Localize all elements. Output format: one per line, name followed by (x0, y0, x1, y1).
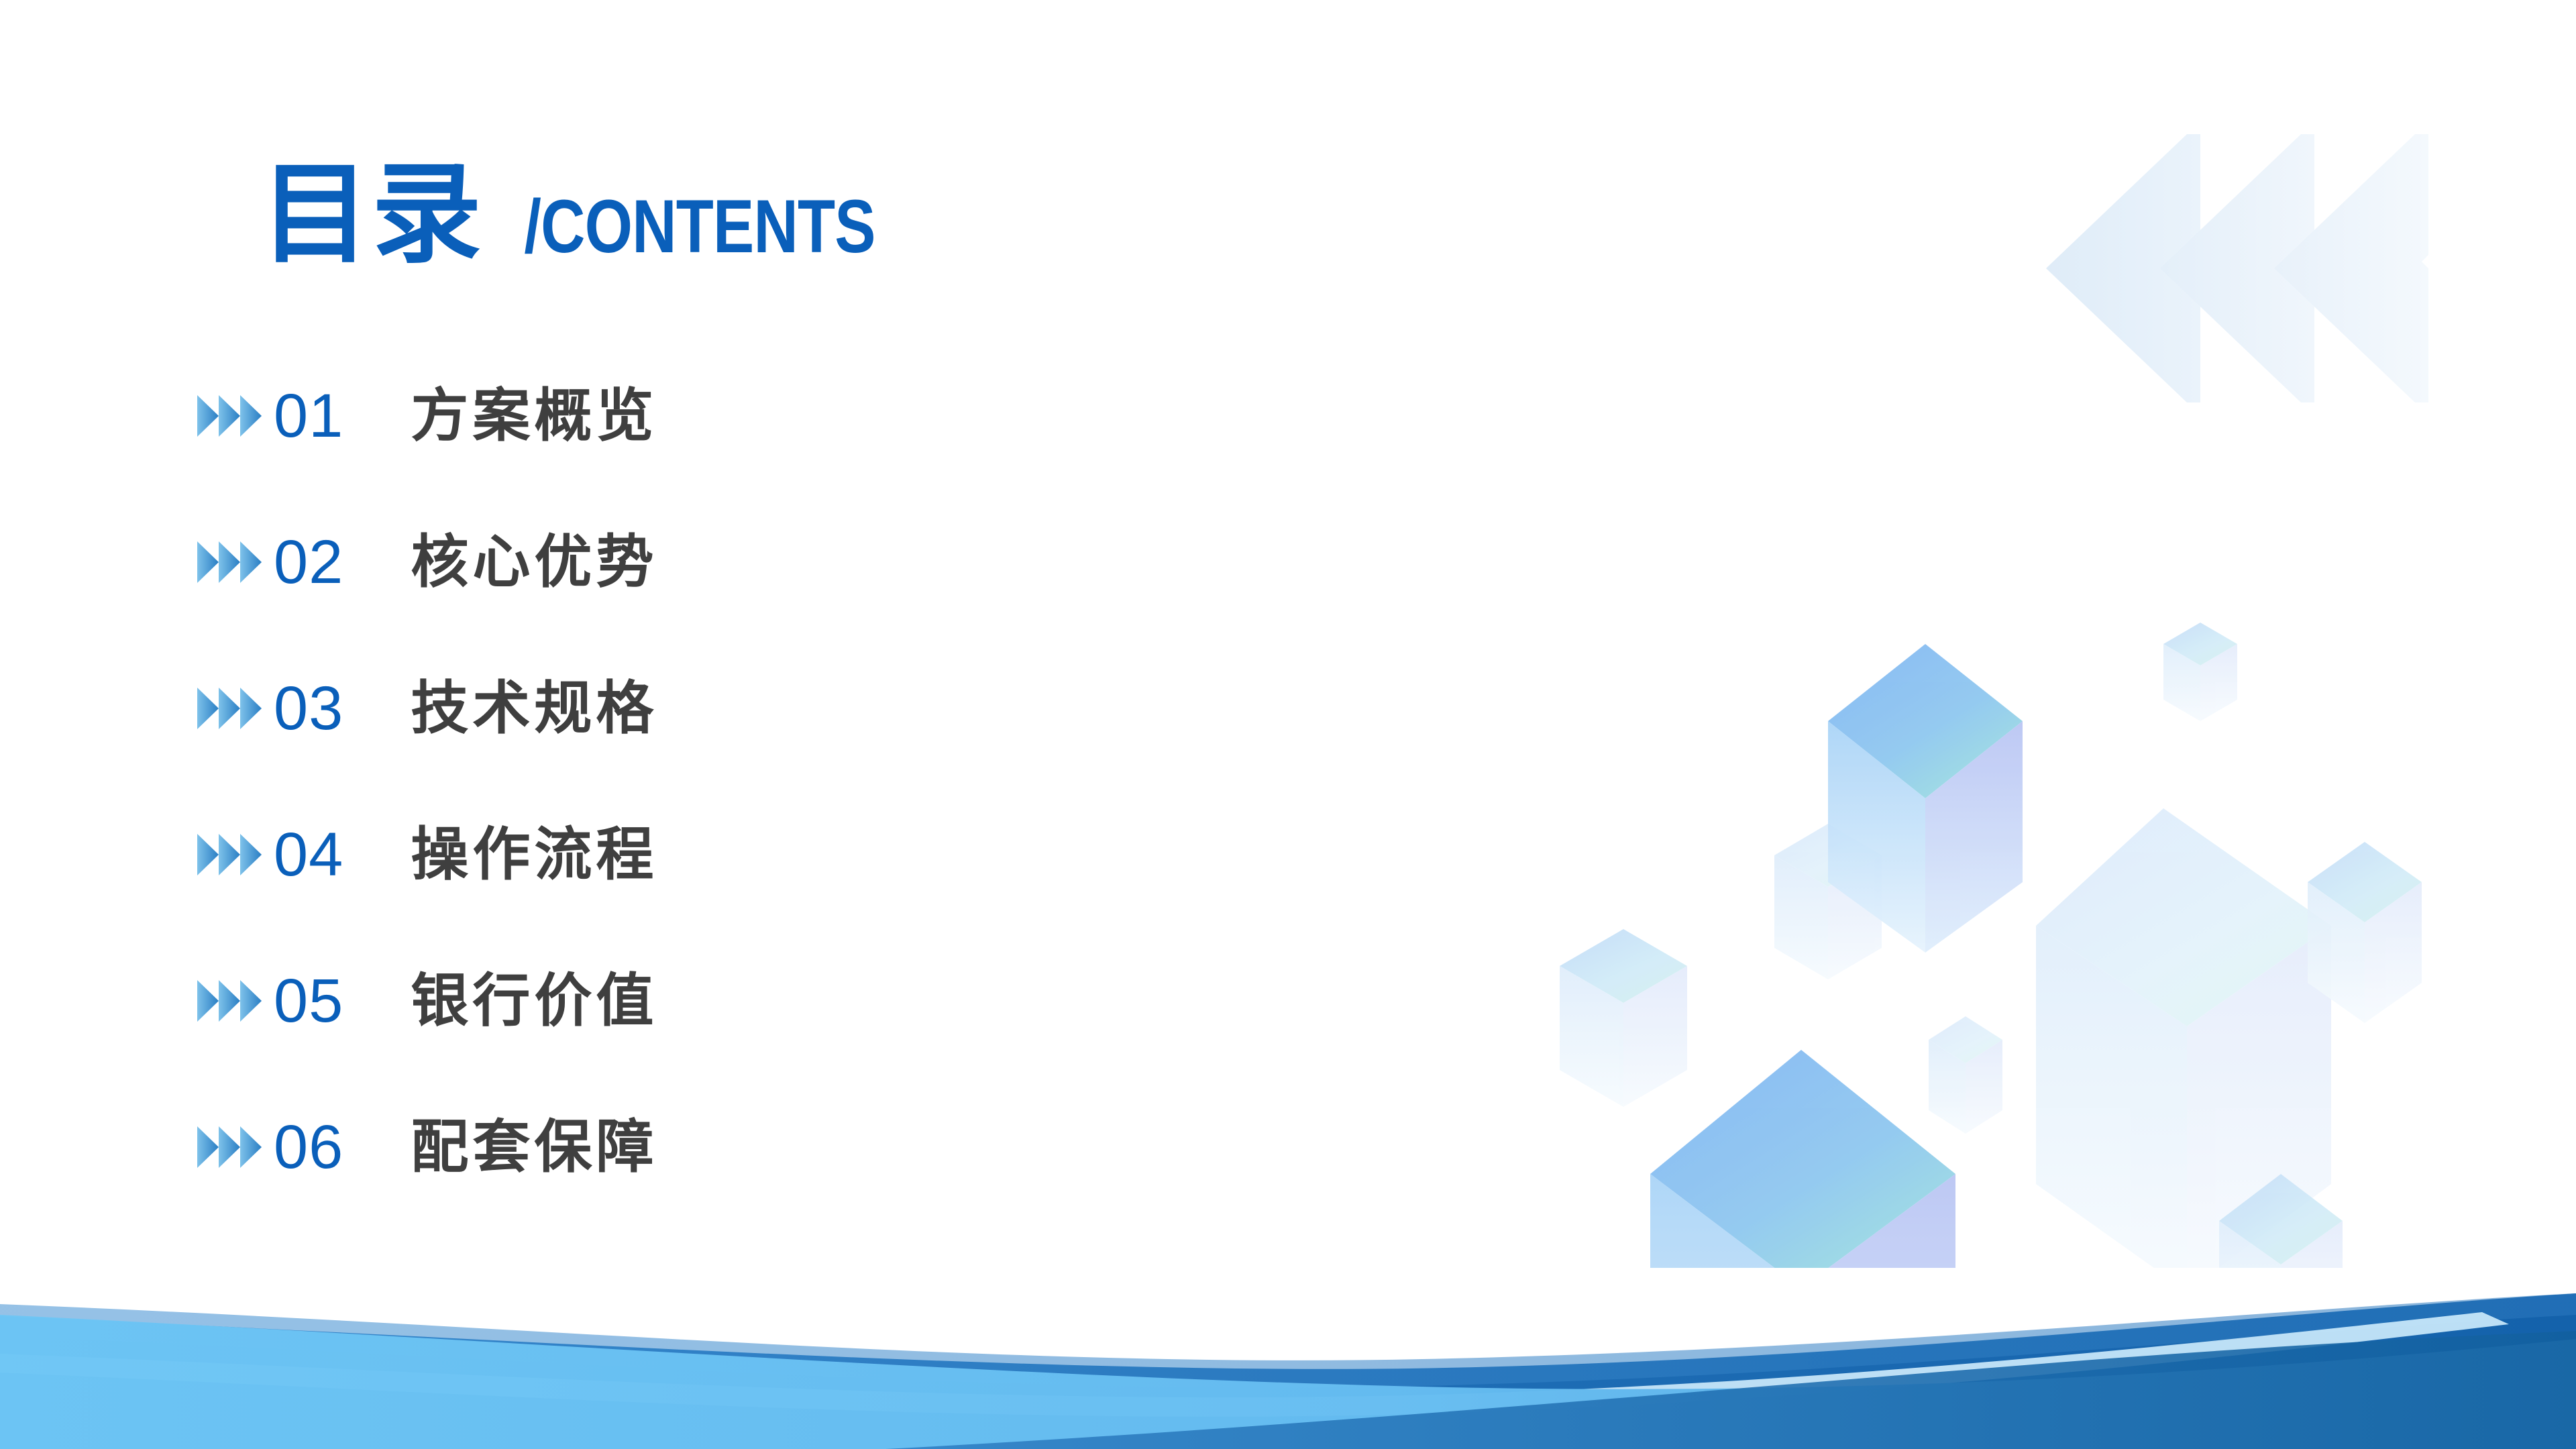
contents-item-number: 04 (274, 824, 343, 885)
contents-list: 01 方案概览 02 核心优势 03 技术规格 (195, 373, 1000, 1190)
double-chevron-right-icon (195, 539, 267, 586)
double-chevron-right-icon (195, 831, 267, 878)
page-title: 目录 /CONTENTS (260, 160, 914, 270)
contents-item-01[interactable]: 01 方案概览 (195, 373, 1000, 459)
contents-item-label: 配套保障 (411, 1118, 657, 1176)
page-title-en: /CONTENTS (524, 189, 875, 264)
page-title-cn: 目录 (260, 160, 483, 270)
triple-chevron-left-icon (2033, 127, 2462, 449)
double-chevron-right-icon (195, 392, 267, 439)
double-chevron-right-icon (195, 977, 267, 1024)
double-chevron-right-icon (195, 685, 267, 732)
wave-band-icon (0, 1275, 2576, 1449)
contents-item-02[interactable]: 02 核心优势 (195, 519, 1000, 605)
contents-item-label: 技术规格 (411, 680, 657, 737)
contents-item-05[interactable]: 05 银行价值 (195, 958, 1000, 1044)
contents-item-label: 操作流程 (411, 826, 657, 883)
contents-item-label: 银行价值 (411, 972, 657, 1030)
contents-item-06[interactable]: 06 配套保障 (195, 1104, 1000, 1190)
contents-item-number: 03 (274, 678, 343, 739)
contents-item-number: 05 (274, 970, 343, 1032)
contents-item-04[interactable]: 04 操作流程 (195, 812, 1000, 898)
contents-item-number: 06 (274, 1116, 343, 1178)
contents-item-number: 01 (274, 385, 343, 447)
contents-item-label: 方案概览 (411, 387, 657, 445)
double-chevron-right-icon (195, 1124, 267, 1171)
contents-item-number: 02 (274, 531, 343, 593)
contents-item-03[interactable]: 03 技术规格 (195, 665, 1000, 751)
slide-canvas: 目录 /CONTENTS 01 方案概览 (0, 0, 2576, 1449)
isometric-cubes-icon (1516, 577, 2576, 1268)
contents-item-label: 核心优势 (411, 533, 657, 591)
